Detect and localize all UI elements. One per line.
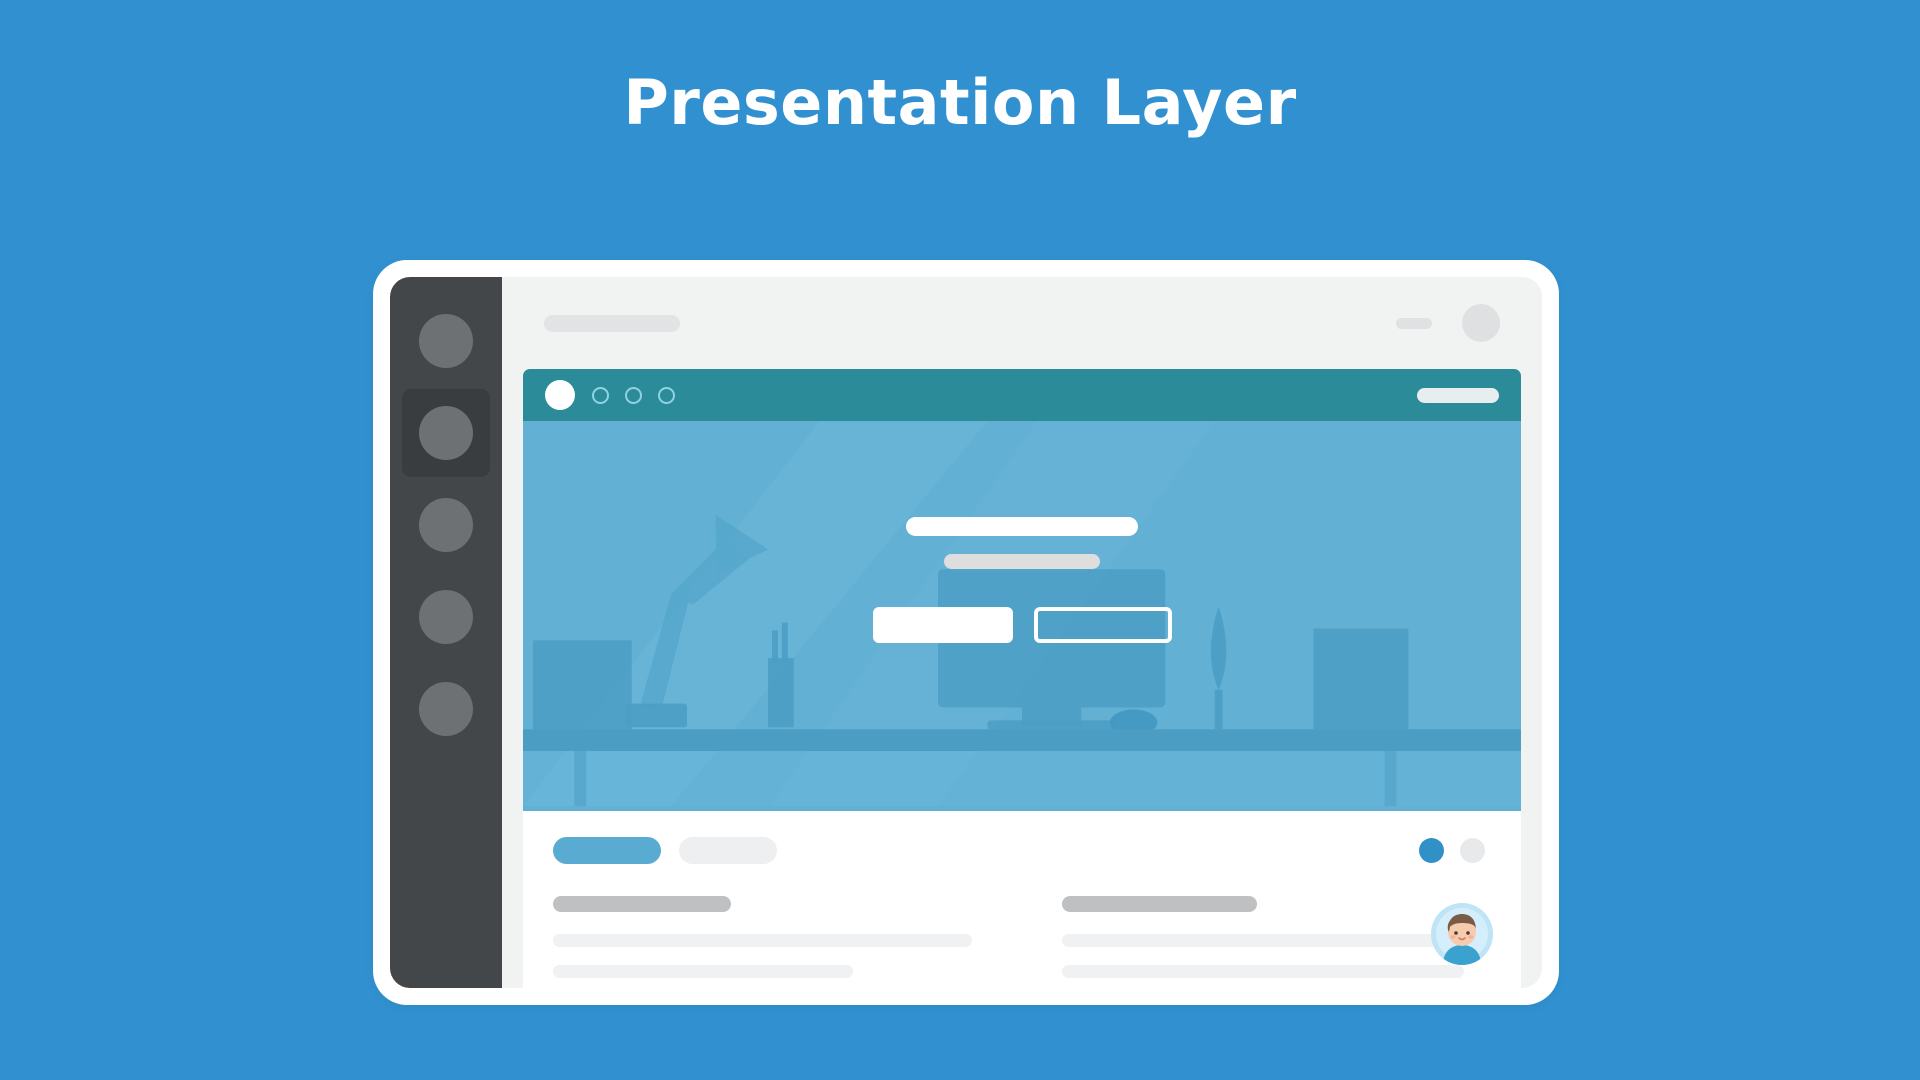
app-sidebar (390, 277, 502, 988)
sidebar-item-2-icon (419, 406, 473, 460)
sidebar-item-3[interactable] (402, 481, 490, 569)
sidebar-item-2[interactable] (402, 389, 490, 477)
column-right-line-1 (1062, 934, 1464, 947)
sidebar-item-1[interactable] (402, 297, 490, 385)
tablet-device-frame (373, 260, 1559, 1005)
browser-window-card (523, 369, 1521, 988)
browser-circle-1-icon[interactable] (592, 387, 609, 404)
app-logo-placeholder (544, 315, 680, 332)
sidebar-item-5[interactable] (402, 665, 490, 753)
browser-circle-2-icon[interactable] (625, 387, 642, 404)
sidebar-item-4[interactable] (402, 573, 490, 661)
hero-copy-block (523, 517, 1521, 643)
content-column-left (553, 896, 976, 988)
hero-subheadline-placeholder (944, 554, 1100, 569)
content-columns (553, 896, 1485, 988)
app-main-pane (502, 277, 1542, 988)
hero-headline-placeholder (906, 517, 1138, 536)
column-left-line-1 (553, 934, 972, 947)
app-toolbar (502, 277, 1542, 369)
column-left-heading-placeholder (553, 896, 731, 912)
user-avatar[interactable] (1431, 903, 1493, 965)
hero-primary-button[interactable] (873, 607, 1013, 643)
sidebar-item-5-icon (419, 682, 473, 736)
column-left-line-2 (553, 965, 853, 978)
column-right-line-2 (1062, 965, 1464, 978)
browser-title-bar (523, 369, 1521, 421)
tab-primary[interactable] (553, 837, 661, 864)
toolbar-actions (1396, 304, 1500, 342)
user-avatar-icon (1431, 903, 1493, 965)
hero-secondary-button[interactable] (1034, 607, 1172, 643)
pagination-dots (1419, 838, 1485, 863)
hero-banner (523, 421, 1521, 811)
toolbar-avatar-icon[interactable] (1462, 304, 1500, 342)
page-title: Presentation Layer (0, 66, 1920, 139)
tablet-screen (390, 277, 1542, 988)
browser-circle-active-icon[interactable] (545, 380, 575, 410)
tab-secondary[interactable] (679, 837, 777, 864)
page-dot-2[interactable] (1460, 838, 1485, 863)
content-area (523, 811, 1521, 988)
hero-button-group (873, 607, 1172, 643)
sidebar-item-4-icon (419, 590, 473, 644)
page-dot-1[interactable] (1419, 838, 1444, 863)
column-right-heading-placeholder (1062, 896, 1257, 912)
content-column-right (1062, 896, 1485, 988)
toolbar-menu-pill[interactable] (1396, 318, 1432, 329)
sidebar-item-1-icon (419, 314, 473, 368)
sidebar-item-3-icon (419, 498, 473, 552)
tab-bar (553, 837, 1485, 864)
browser-circle-3-icon[interactable] (658, 387, 675, 404)
browser-address-pill[interactable] (1417, 388, 1499, 403)
